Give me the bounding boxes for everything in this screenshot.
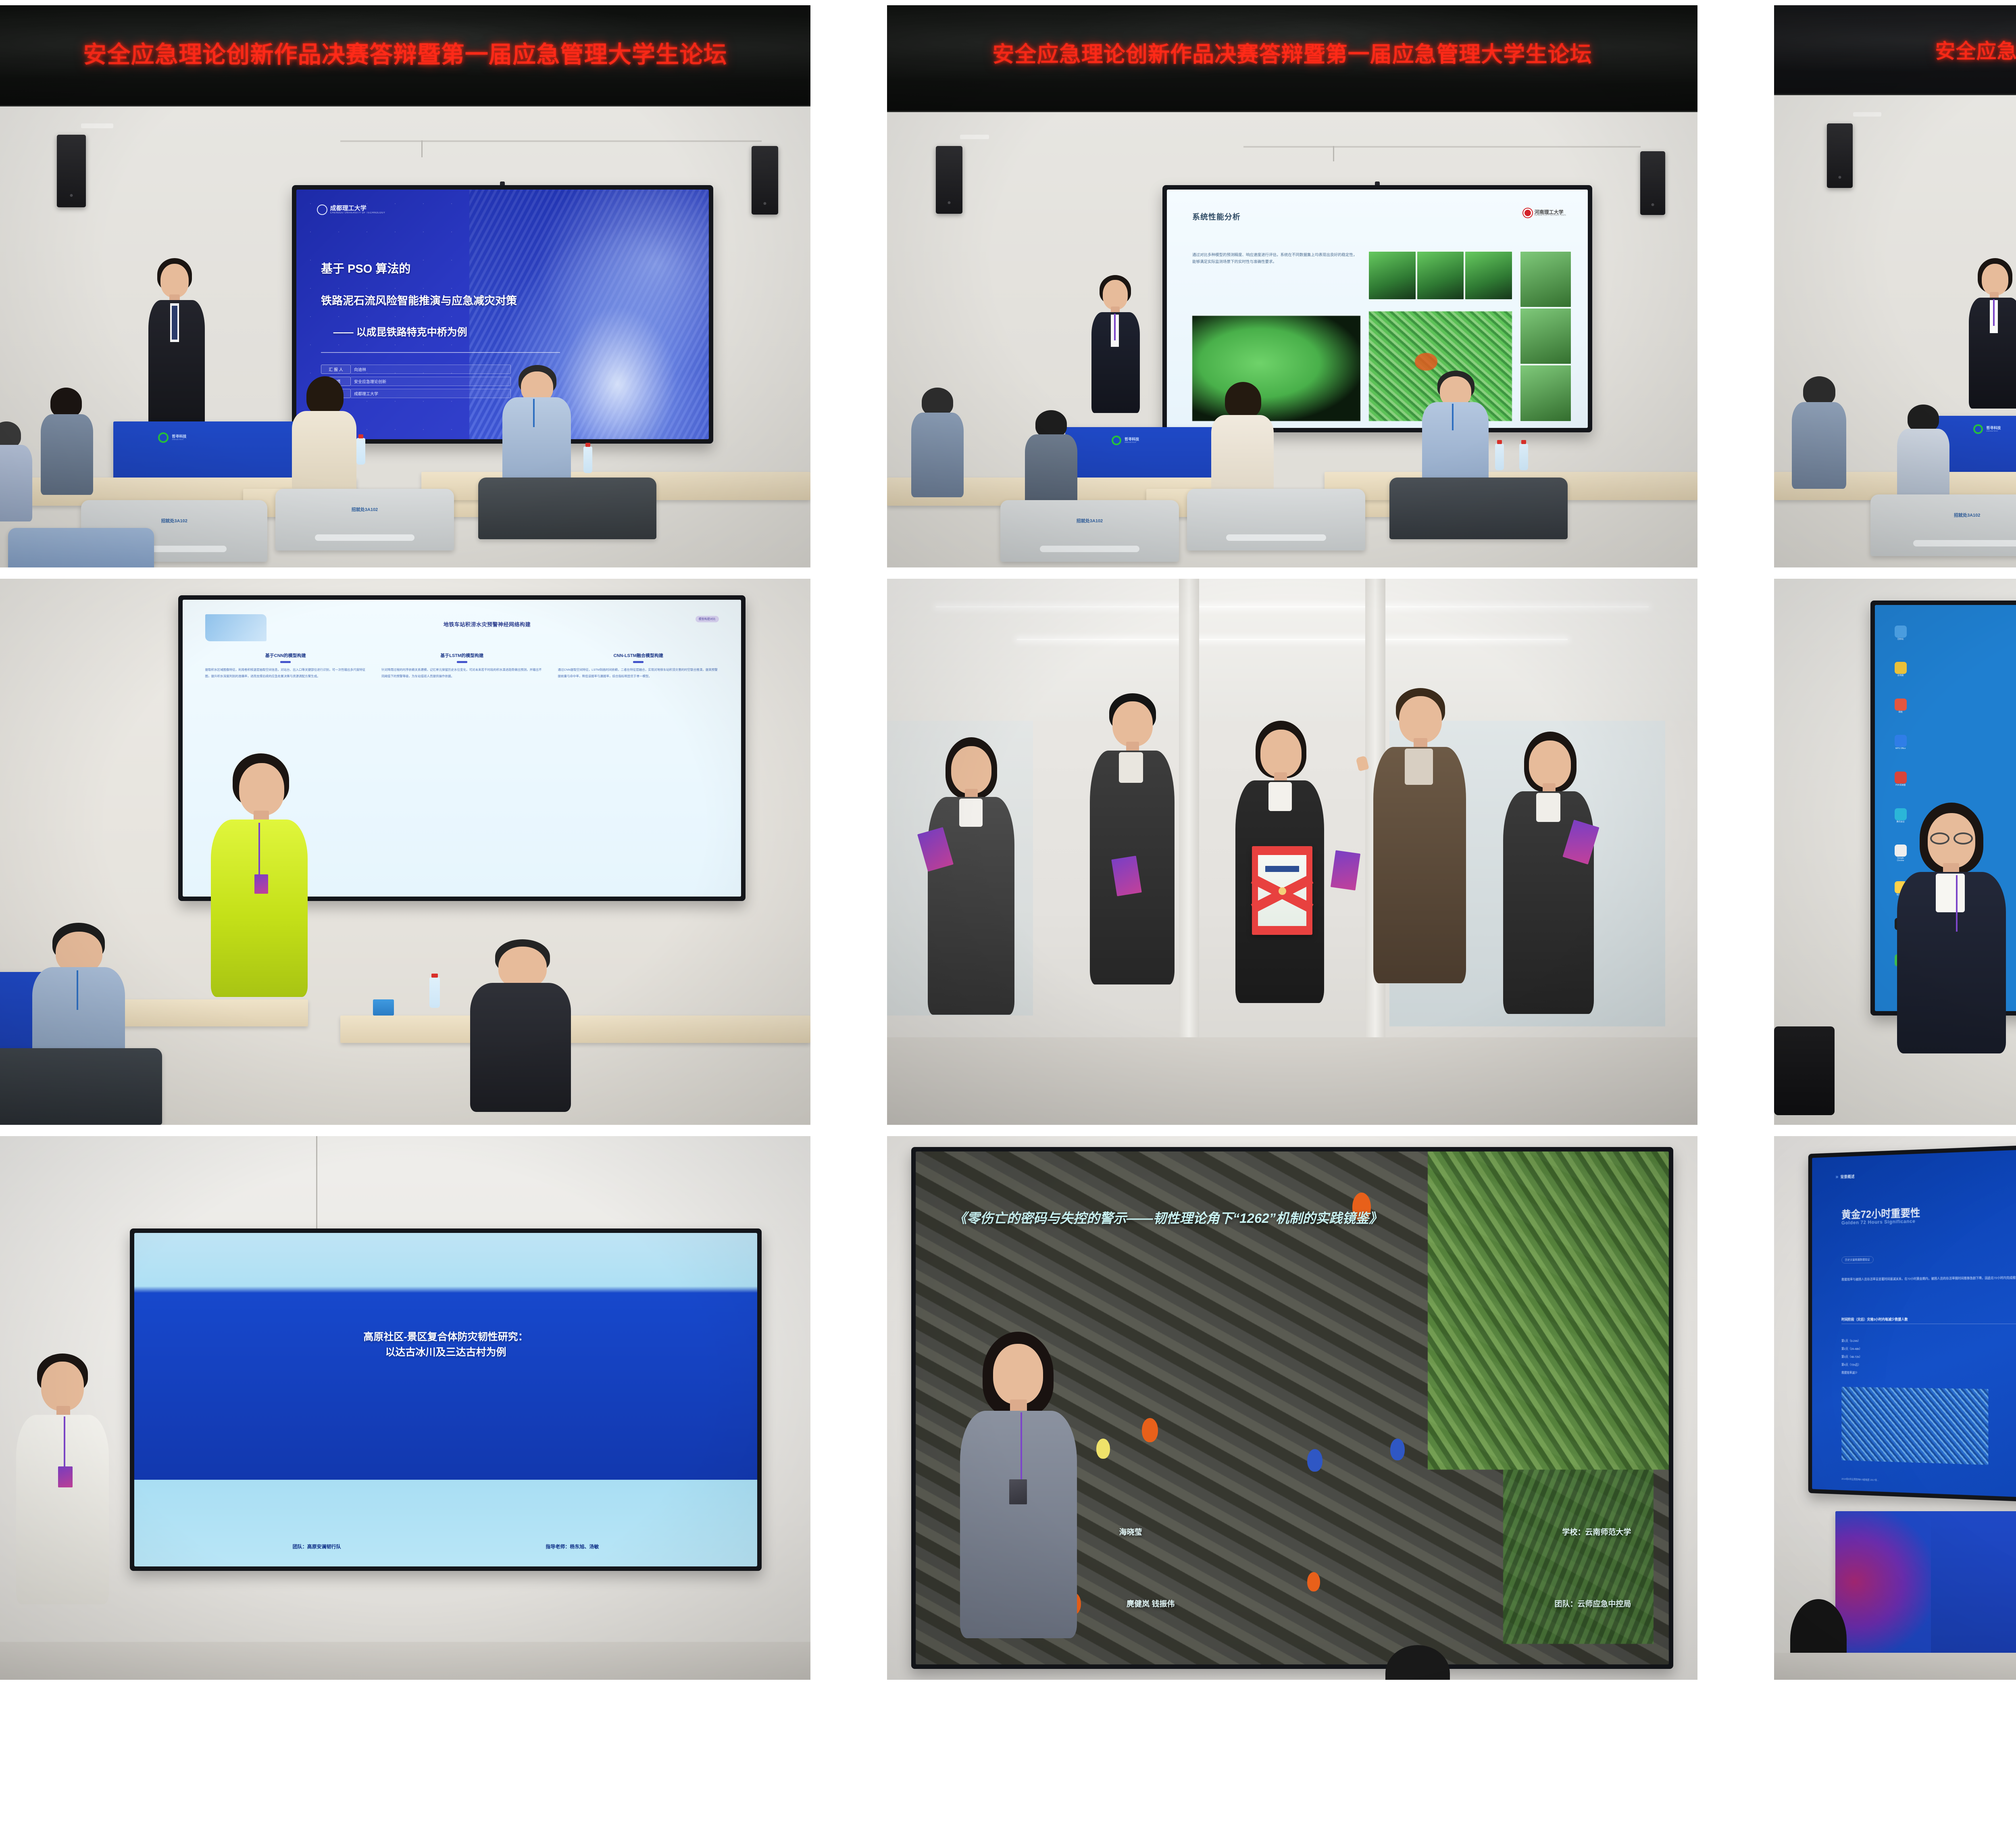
chair <box>0 1048 162 1125</box>
slide-body: 通过对比多种模型的预测精度、响应速度进行评估，系统在不同数据集上均表现出良好的稳… <box>1192 252 1360 266</box>
audience-member <box>1897 405 1949 507</box>
led-banner-text-1: 安全应急理论创新作品决赛答辩暨第一届应急管理大学生论坛 <box>83 35 727 69</box>
photo-panel-4[interactable]: 地铁车站积涝水灾预警神经网络构建 模型构建对比 基于CNN的模型构建 提取积水区… <box>0 579 810 1125</box>
wall-speaker <box>752 146 778 215</box>
chair <box>8 528 154 567</box>
field-value: 成都理工大学 <box>351 389 511 398</box>
slide-heading: 系统性能分析 <box>1192 211 1241 222</box>
university-name: 成都理工大学 <box>330 205 367 212</box>
audience-member <box>0 421 32 518</box>
slide-tag: 模型构建对比 <box>696 616 719 622</box>
presentation-display: 高原社区-景区复合体防灾韧性研究： 以达古冰川及三达古村为例 团队：高原安澜韧行… <box>130 1228 762 1571</box>
slide-golden-72-hours: »背景概述 背景概述 需求分析方案设计技术实现应用效果总结展望 黄金72小时重要… <box>1812 1136 2016 1515</box>
student <box>928 737 1014 1016</box>
photo-panel-1[interactable]: 安全应急理论创新作品决赛答辩暨第一届应急管理大学生论坛 成都理工大学 CHENG… <box>0 5 810 567</box>
honor-certificate <box>1252 846 1312 935</box>
field-value: 安全应急理论创新 <box>351 377 511 386</box>
column-title: CNN-LSTM融合模型构建 <box>558 653 719 659</box>
led-banner-text-2: 安全应急理论创新作品决赛答辩暨第一届应急管理大学生论坛 <box>992 36 1592 68</box>
photo-panel-8[interactable]: 《零伤亡的密码与失控的警示——韧性理论角下“1262”机制的实践镜鉴》 海晓莹 … <box>887 1136 1697 1680</box>
chair: 招就处3A102 <box>275 489 454 551</box>
slide-heading: 黄金72小时重要性 Golden 72 Hours Significance <box>1841 1205 1920 1226</box>
photo-panel-6[interactable]: 回收站 此电脑 网络 WPS Office PDF阅读器 腾讯会议 Google… <box>1774 579 2016 1125</box>
photographer-hand <box>1774 1026 1835 1115</box>
chair-label: 招就处3A102 <box>1870 512 2016 518</box>
column-body: 针对降雨过程的时序依赖关系建模，记忆单元保留历史水位变化，可对未来若干时段的积水… <box>381 667 542 679</box>
presentation-display: »背景概述 背景概述 需求分析方案设计技术实现应用效果总结展望 黄金72小时重要… <box>1808 1136 2016 1520</box>
award-recipient <box>1897 803 2006 1053</box>
slide-title: 《零伤亡的密码与失控的警示——韧性理论角下“1262”机制的实践镜鉴》 <box>954 1208 1639 1228</box>
slide-chip: 历史灾害救援数据验证 <box>1841 1256 1873 1264</box>
desktop-icon[interactable]: 回收站 <box>1894 626 1908 641</box>
audience-member <box>1357 1645 1478 1680</box>
field-value: 向迪林 <box>351 365 511 374</box>
audience-member <box>1422 371 1489 492</box>
photo-panel-7[interactable]: 高原社区-景区复合体防灾韧性研究： 以达古冰川及三达古村为例 团队：高原安澜韧行… <box>0 1136 810 1680</box>
slide-column: 基于LSTM的模型构建 针对降雨过程的时序依赖关系建模，记忆单元保留历史水位变化… <box>381 653 542 888</box>
slide-title-line2: 以达古冰川及三达古村为例 <box>134 1345 758 1360</box>
student <box>1090 693 1175 984</box>
university-logo: 成都理工大学 CHENGDU UNIVERSITY OF TECHNOLOGY <box>317 204 385 215</box>
slide-title-line1: 高原社区-景区复合体防灾韧性研究： <box>134 1330 758 1345</box>
audience-member <box>470 939 571 1109</box>
audience-member <box>292 376 356 489</box>
student <box>1373 688 1466 982</box>
audience-member <box>41 388 93 492</box>
slide-field: 汇 报 人 向迪林 <box>321 365 511 374</box>
certificate-title <box>1265 866 1299 872</box>
photo-panel-3[interactable]: 安全应急理论创新作品决赛答辩暨第二届应急管理大学生论坛 选题背景 研究内容与方法… <box>1774 5 2016 567</box>
audience-member <box>1211 382 1274 495</box>
photo-panel-2[interactable]: 安全应急理论创新作品决赛答辩暨第一届应急管理大学生论坛 系统性能分析 河南理工大… <box>887 5 1697 567</box>
chair <box>478 478 656 539</box>
university-name-en: CHENGDU UNIVERSITY OF TECHNOLOGY <box>330 212 385 214</box>
presenter <box>146 258 206 428</box>
presenter <box>1090 275 1141 412</box>
led-banner-text-3: 安全应急理论创新作品决赛答辩暨第二届应急管理大学生论坛 <box>1935 35 2016 64</box>
advisor-label: 指导老师：杨东旭、汤敏 <box>546 1543 599 1550</box>
column-body: 通过CNN提取空间特征，LSTM刻画时间依赖，二者在特征层融合，实现对地铁车站积… <box>558 667 719 679</box>
column-title: 基于CNN的模型构建 <box>205 653 366 659</box>
slide-title: 高原社区-景区复合体防灾韧性研究： 以达古冰川及三达古村为例 <box>134 1330 758 1360</box>
chair-label: 招就处3A102 <box>1000 517 1179 524</box>
slide-title-line2: 铁路泥石流风险智能推演与应急减灾对策 <box>321 292 517 308</box>
audience-member <box>1025 410 1077 511</box>
slide-title-line1: 基于 PSO 算法的 <box>321 259 410 276</box>
wall-speaker <box>1827 123 1853 188</box>
chair: 招就处3A102 <box>1870 494 2016 556</box>
slide-plateau-resilience: 高原社区-景区复合体防灾韧性研究： 以达古冰川及三达古村为例 团队：高原安澜韧行… <box>134 1233 758 1566</box>
slide-paragraph: 救援效率与被困人员存活率呈显著时间衰减关系，在72小时黄金期内，被困人员的存活率… <box>1841 1274 2016 1283</box>
members-label: 麂健岚 钱振伟 <box>1127 1598 1175 1609</box>
slide-footnote: 2014年8月云南鲁甸6.5级地震 2017年... <box>1841 1477 1879 1482</box>
audience-member <box>911 388 964 496</box>
photo-collage-grid: 安全应急理论创新作品决赛答辩暨第一届应急管理大学生论坛 成都理工大学 CHENG… <box>0 0 2016 1829</box>
school-label: 学校：云南师范大学 <box>1562 1526 1631 1537</box>
field-key: 汇 报 人 <box>321 365 351 374</box>
chair <box>1389 478 1568 539</box>
presenter <box>960 1332 1077 1638</box>
slide-heading: 地铁车站积涝水灾预警神经网络构建 <box>261 620 713 628</box>
slide-eyebrow: 背景概述 <box>1840 1173 1854 1179</box>
column-title: 基于LSTM的模型构建 <box>381 653 542 659</box>
desktop-icon[interactable]: 网络 <box>1894 699 1908 714</box>
badge <box>254 874 268 894</box>
desktop-icon[interactable]: PDF阅读器 <box>1894 772 1908 787</box>
photo-panel-5[interactable] <box>887 579 1697 1125</box>
chair: 招就处3A102 <box>1000 500 1179 562</box>
presenter-label: 海晓莹 <box>1119 1526 1142 1537</box>
team-label: 团队：高原安澜韧行队 <box>293 1543 341 1550</box>
brand-logo <box>205 614 267 641</box>
desktop-icon[interactable]: 此电脑 <box>1894 662 1908 677</box>
badge <box>1009 1479 1027 1504</box>
badge <box>58 1466 73 1487</box>
audience-member <box>1792 376 1846 489</box>
data-table: 第1天（0-24h）6,000 第2天（24-48h）13,000 第3天（48… <box>1841 1337 2016 1380</box>
audience-member <box>502 365 571 486</box>
presenter <box>16 1354 109 1604</box>
org-logo: 河南理工大学HENAN POLYTECHNIC UNIV. <box>1523 209 1567 217</box>
slide-title-line3: —— 以成昆铁路特克中桥为例 <box>333 324 467 339</box>
column-body: 提取积水区域图像特征，利用卷积核逐层抽取空间信息，对站台、出入口等关键部位进行识… <box>205 667 366 679</box>
table-title: 时间阶段（灾后）灾难3小时内每减少救援人数 <box>1841 1316 2016 1324</box>
slide-column: CNN-LSTM融合模型构建 通过CNN提取空间特征，LSTM刻画时间依赖，二者… <box>558 653 719 888</box>
wall-speaker <box>57 135 86 207</box>
student <box>1503 732 1594 1014</box>
presenter <box>211 753 308 995</box>
wall-speaker <box>1640 151 1665 215</box>
photo-panel-9[interactable]: »背景概述 背景概述 需求分析方案设计技术实现应用效果总结展望 黄金72小时重要… <box>1774 1136 2016 1680</box>
chair-label: 招就处3A102 <box>81 517 267 524</box>
presenter <box>1967 258 2016 407</box>
commemorative-plaque <box>1330 850 1360 891</box>
chair-label: 招就处3A102 <box>275 506 454 513</box>
chair <box>1187 489 1365 551</box>
team-label: 团队：云师应急中控局 <box>1554 1598 1631 1609</box>
desktop-icon[interactable]: WPS Office <box>1894 735 1908 750</box>
wall-speaker <box>936 146 962 214</box>
